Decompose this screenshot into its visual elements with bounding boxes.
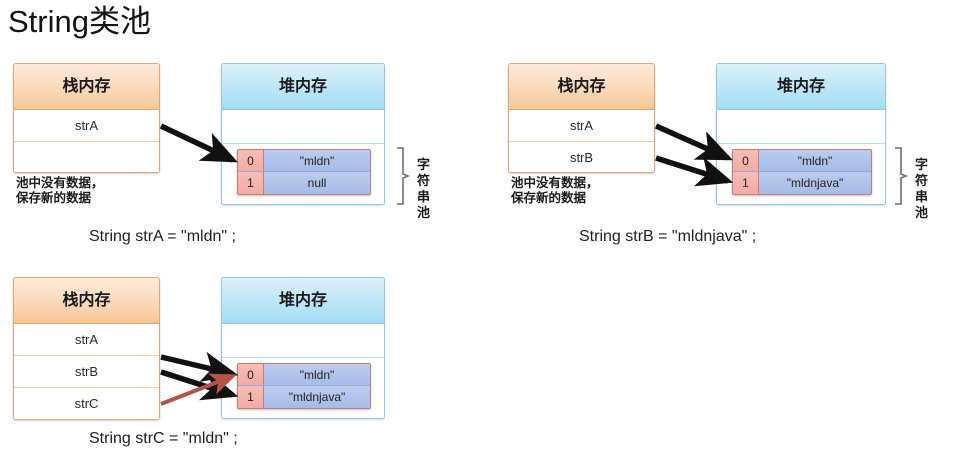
pool-row-0-1: 0 "mldn": [238, 150, 370, 172]
pool-value-0-3: "mldn": [264, 364, 370, 385]
pool-index-0-2: 0: [733, 150, 759, 171]
pool-index-1-1: 1: [238, 172, 264, 194]
note-pool-empty-1: 池中没有数据， 保存新的数据: [16, 176, 156, 206]
string-pool-table-3: 0 "mldn" 1 "mldnjava": [237, 363, 371, 409]
note-pool-empty-2: 池中没有数据， 保存新的数据: [511, 176, 651, 206]
heap-memory-header-3: 堆内存: [222, 278, 384, 324]
stack-row-stra-1: strA: [14, 110, 159, 142]
pool-value-0-2: "mldn": [759, 150, 871, 171]
pool-value-1-3: "mldnjava": [264, 386, 370, 408]
code-caption-3: String strC = "mldn" ;: [89, 430, 238, 448]
heap-body-1: 0 "mldn" 1 null: [222, 144, 384, 204]
code-caption-1: String strA = "mldn" ;: [89, 228, 236, 246]
pool-value-1-1: null: [264, 172, 370, 194]
pool-index-0-3: 0: [238, 364, 264, 385]
pool-bracket-2: [894, 146, 908, 206]
stack-row-stra-3: strA: [14, 324, 159, 356]
heap-body-3: 0 "mldn" 1 "mldnjava": [222, 358, 384, 418]
pool-index-0-1: 0: [238, 150, 264, 171]
heap-blank-row-1: [222, 110, 384, 144]
code-caption-2: String strB = "mldnjava" ;: [579, 228, 756, 246]
string-pool-table-1: 0 "mldn" 1 null: [237, 149, 371, 195]
heap-memory-header-1: 堆内存: [222, 64, 384, 110]
stack-row-empty-1: [14, 142, 159, 173]
stack-row-strb-2: strB: [509, 142, 654, 173]
pool-label-1: 字符 串池: [417, 157, 430, 221]
stack-row-strc-3: strC: [14, 388, 159, 420]
stack-memory-header-2: 栈内存: [509, 64, 654, 110]
pool-value-0-1: "mldn": [264, 150, 370, 171]
stack-memory-box-3: 栈内存 strA strB strC: [13, 277, 160, 420]
pool-index-1-2: 1: [733, 172, 759, 194]
stack-row-strb-3: strB: [14, 356, 159, 388]
pool-row-1-1: 1 null: [238, 172, 370, 194]
heap-body-2: 0 "mldn" 1 "mldnjava": [717, 144, 885, 204]
stack-row-stra-2: strA: [509, 110, 654, 142]
stack-memory-box-1: 栈内存 strA: [13, 63, 160, 173]
heap-blank-row-3: [222, 324, 384, 358]
heap-memory-box-2: 堆内存 0 "mldn" 1 "mldnjava": [716, 63, 886, 205]
heap-memory-box-3: 堆内存 0 "mldn" 1 "mldnjava": [221, 277, 385, 419]
page-title: String类池: [8, 0, 151, 44]
pool-bracket-1: [396, 146, 410, 206]
heap-memory-header-2: 堆内存: [717, 64, 885, 110]
heap-memory-box-1: 堆内存 0 "mldn" 1 null: [221, 63, 385, 205]
stack-memory-header-3: 栈内存: [14, 278, 159, 324]
pool-row-1-2: 1 "mldnjava": [733, 172, 871, 194]
stack-memory-box-2: 栈内存 strA strB: [508, 63, 655, 173]
stack-memory-header-1: 栈内存: [14, 64, 159, 110]
pool-value-1-2: "mldnjava": [759, 172, 871, 194]
string-pool-table-2: 0 "mldn" 1 "mldnjava": [732, 149, 872, 195]
pool-row-1-3: 1 "mldnjava": [238, 386, 370, 408]
pool-row-0-2: 0 "mldn": [733, 150, 871, 172]
pool-index-1-3: 1: [238, 386, 264, 408]
heap-blank-row-2: [717, 110, 885, 144]
pool-row-0-3: 0 "mldn": [238, 364, 370, 386]
pool-label-2: 字符 串池: [915, 157, 928, 221]
